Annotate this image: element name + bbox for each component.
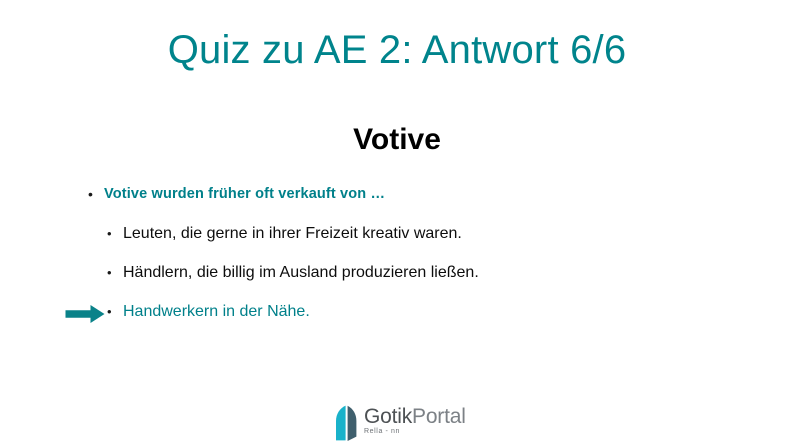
bullet-point-icon: • — [88, 184, 104, 205]
bullet-point-icon: • — [107, 301, 123, 322]
bullet-point-icon: • — [107, 262, 123, 283]
brand-logo: GotikPortal Rella - nn — [334, 405, 464, 443]
list-item-label: Votive wurden früher oft verkauft von … — [104, 184, 385, 205]
logo-wordmark: GotikPortal Rella - nn — [364, 405, 466, 436]
bullet-point-icon: • — [107, 223, 123, 244]
page-title: Quiz zu AE 2: Antwort 6/6 — [0, 27, 794, 73]
logo-name: GotikPortal — [364, 406, 466, 428]
list-item: • Votive wurden früher oft verkauft von … — [0, 184, 794, 206]
content-heading: Votive — [0, 122, 794, 158]
list-item-label: Leuten, die gerne in ihrer Freizeit krea… — [123, 223, 462, 244]
list-item-correct-answer: • Handwerkern in der Nähe. — [0, 301, 794, 323]
logo-tagline: Rella - nn — [364, 427, 466, 436]
list-item-label: Handwerkern in der Nähe. — [123, 301, 310, 322]
list-item: • Händlern, die billig im Ausland produz… — [0, 262, 794, 284]
list-item-label: Händlern, die billig im Ausland produzie… — [123, 262, 479, 283]
logo-name-part1: Gotik — [364, 405, 412, 428]
presentation-slide: Quiz zu AE 2: Antwort 6/6 Votive • Votiv… — [0, 0, 794, 446]
bullet-list: • Votive wurden früher oft verkauft von … — [0, 184, 794, 340]
logo-name-part2: Portal — [412, 405, 466, 428]
list-item: • Leuten, die gerne in ihrer Freizeit kr… — [0, 223, 794, 245]
gothic-arch-icon — [334, 405, 360, 441]
right-arrow-icon — [64, 304, 106, 324]
